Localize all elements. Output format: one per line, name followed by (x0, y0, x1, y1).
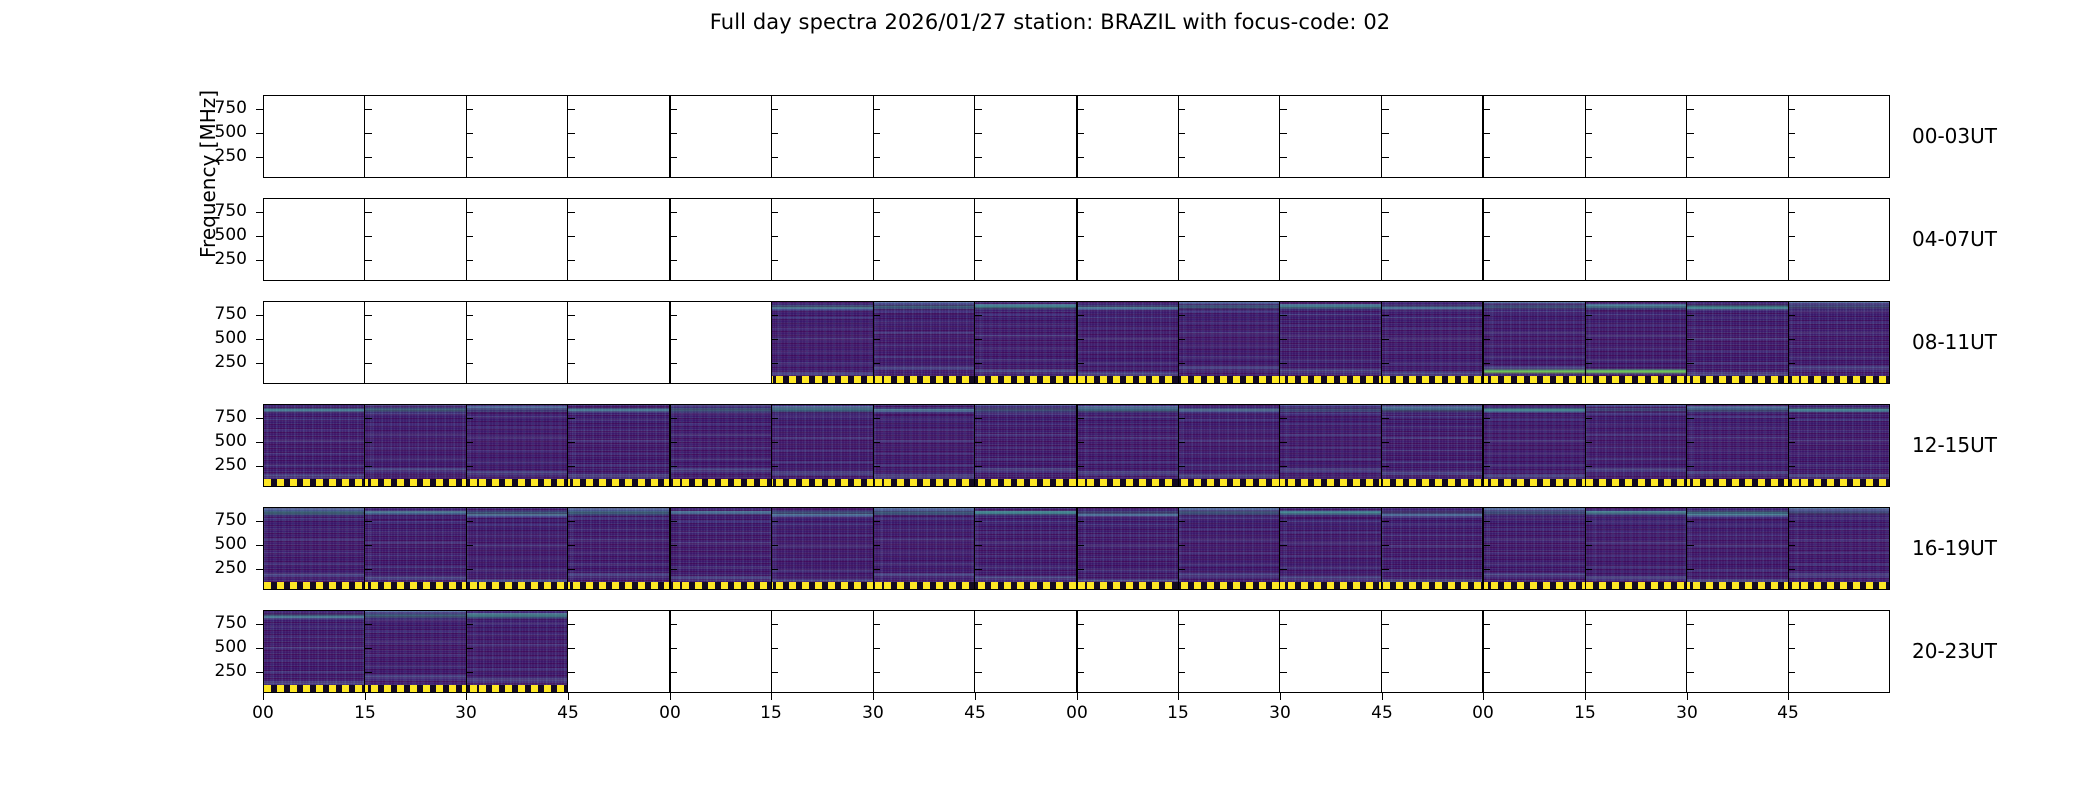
data-marker-line (975, 479, 1075, 486)
spectrogram-panel[interactable] (874, 302, 975, 383)
y-tick-mark-inner (1178, 521, 1185, 522)
spectrogram-panel[interactable] (1687, 199, 1788, 280)
spectrogram-panel[interactable] (1382, 508, 1484, 589)
spectrogram-panel[interactable] (264, 508, 365, 589)
spectrogram-panel[interactable] (874, 96, 975, 177)
spectrogram-panel[interactable] (1484, 199, 1585, 280)
y-tick-mark-inner (1483, 133, 1490, 134)
x-tick-mark (263, 693, 264, 700)
y-tick-mark-inner (1483, 624, 1490, 625)
spectrogram-panel[interactable] (1280, 302, 1381, 383)
row-axes-04-07ut[interactable] (263, 198, 1890, 281)
spectrogram-panel[interactable] (467, 96, 568, 177)
spectrogram-panel[interactable] (264, 302, 365, 383)
spectrogram-panel[interactable] (671, 199, 772, 280)
y-tick-mark-inner (568, 212, 575, 213)
spectrogram-panel[interactable] (975, 611, 1077, 692)
spectrogram-image (1687, 405, 1787, 486)
spectrogram-panel[interactable] (1484, 302, 1585, 383)
spectrogram-image (1586, 508, 1686, 589)
y-tick-mark-inner (1077, 133, 1084, 134)
spectrogram-image (1484, 302, 1584, 383)
y-tick-mark-inner (568, 339, 575, 340)
y-tick-mark-inner (670, 363, 677, 364)
y-tick-mark-inner (670, 418, 677, 419)
spectrogram-panel[interactable] (772, 199, 873, 280)
y-tick-mark-inner (1280, 260, 1287, 261)
y-tick-mark-inner (670, 624, 677, 625)
y-tick-mark-inner (1687, 442, 1694, 443)
spectrogram-panel[interactable] (467, 199, 568, 280)
y-tick-mark-inner (1788, 648, 1795, 649)
data-marker-line (1586, 479, 1686, 486)
spectrogram-panel[interactable] (1687, 611, 1788, 692)
y-tick-mark-inner (1178, 648, 1185, 649)
y-tick-mark-inner (975, 236, 982, 237)
y-tick-mark-inner (1280, 418, 1287, 419)
spectrogram-panel[interactable] (467, 611, 568, 692)
y-tick-mark-inner (1788, 624, 1795, 625)
spectrogram-panel[interactable] (1789, 96, 1889, 177)
data-marker-line (874, 582, 974, 589)
x-tick-mark (365, 693, 366, 700)
spectrogram-row: 750500250 (263, 198, 1890, 281)
y-tick-mark-inner (466, 521, 473, 522)
y-tick-mark-inner (1585, 339, 1592, 340)
spectrogram-image (1687, 302, 1787, 383)
y-tick-mark-inner (873, 109, 880, 110)
y-tick-mark-inner (1788, 236, 1795, 237)
data-marker-line (264, 479, 364, 486)
y-tick-mark-inner (771, 624, 778, 625)
row-axes-20-23ut[interactable] (263, 610, 1890, 693)
x-tick-label: 45 (538, 703, 598, 723)
spectrogram-panel[interactable] (1586, 199, 1687, 280)
y-tick-mark-inner (1788, 442, 1795, 443)
y-tick-mark-inner (1077, 212, 1084, 213)
spectrogram-panel[interactable] (772, 302, 873, 383)
spectrogram-panel[interactable] (1179, 611, 1280, 692)
spectrogram-panel[interactable] (1687, 508, 1788, 589)
y-tick-mark-inner (1687, 545, 1694, 546)
y-tick-mark-inner (1585, 212, 1592, 213)
spectrogram-panel[interactable] (1586, 508, 1687, 589)
row-axes-16-19ut[interactable] (263, 507, 1890, 590)
y-tick-mark-inner (568, 442, 575, 443)
spectrogram-panel[interactable] (1789, 302, 1889, 383)
spectrogram-panel[interactable] (568, 302, 670, 383)
spectrogram-panel[interactable] (1586, 405, 1687, 486)
spectrogram-image (1586, 302, 1686, 383)
y-tick-mark-inner (1788, 157, 1795, 158)
spectrogram-panel[interactable] (1789, 199, 1889, 280)
y-tick-mark-inner (365, 648, 372, 649)
spectrogram-panel[interactable] (568, 96, 670, 177)
spectrogram-panel[interactable] (1280, 199, 1381, 280)
y-tick-label: 500 (197, 433, 247, 450)
y-tick-mark-inner (1178, 260, 1185, 261)
spectrogram-panel[interactable] (365, 96, 466, 177)
y-tick-mark-inner (1077, 109, 1084, 110)
y-tick-mark-inner (1178, 442, 1185, 443)
spectrogram-panel[interactable] (1484, 96, 1585, 177)
spectrogram-panel[interactable] (467, 302, 568, 383)
x-tick-label: 45 (945, 703, 1005, 723)
spectrogram-panel[interactable] (264, 199, 365, 280)
spectrogram-panel[interactable] (975, 302, 1077, 383)
spectrogram-panel[interactable] (1280, 611, 1381, 692)
y-tick-mark-inner (873, 133, 880, 134)
y-tick-mark-inner (1280, 363, 1287, 364)
data-marker-line (568, 582, 668, 589)
spectrogram-panel[interactable] (1280, 508, 1381, 589)
spectrogram-panel[interactable] (1687, 405, 1788, 486)
y-tick-mark-inner (873, 260, 880, 261)
spectrogram-panel[interactable] (874, 405, 975, 486)
y-tick-mark-inner (1077, 521, 1084, 522)
y-tick-mark-inner (568, 315, 575, 316)
y-tick-mark-inner (975, 260, 982, 261)
y-tick-mark-inner (1788, 545, 1795, 546)
y-tick-mark-inner (1483, 315, 1490, 316)
spectrogram-panel[interactable] (1789, 405, 1889, 486)
y-tick-mark-inner (1585, 442, 1592, 443)
spectrogram-panel[interactable] (1484, 611, 1585, 692)
y-tick-mark-inner (1687, 363, 1694, 364)
y-tick-mark-inner (1585, 236, 1592, 237)
spectrogram-image (1484, 405, 1584, 486)
spectrogram-row: 750500250 (263, 95, 1890, 178)
y-tick-mark (256, 521, 263, 522)
y-tick-mark-inner (1077, 315, 1084, 316)
y-tick-label: 750 (197, 100, 247, 117)
y-tick-mark-inner (1687, 339, 1694, 340)
y-tick-mark-inner (1077, 418, 1084, 419)
spectrogram-panel[interactable] (975, 405, 1077, 486)
y-tick-mark-inner (1788, 569, 1795, 570)
y-tick-mark-inner (1178, 624, 1185, 625)
y-tick-mark-inner (771, 339, 778, 340)
y-tick-label: 750 (197, 615, 247, 632)
data-marker-line (1280, 582, 1380, 589)
y-tick-mark-inner (1788, 363, 1795, 364)
spectrogram-panel[interactable] (1484, 405, 1585, 486)
spectrogram-panel[interactable] (1179, 302, 1280, 383)
spectrogram-image (1179, 508, 1279, 589)
y-tick-mark-inner (1483, 466, 1490, 467)
y-tick-label: 250 (197, 251, 247, 268)
spectrogram-panel[interactable] (1280, 96, 1381, 177)
spectrogram-panel[interactable] (772, 405, 873, 486)
spectrogram-panel[interactable] (1078, 96, 1179, 177)
y-tick-mark-inner (365, 466, 372, 467)
spectrogram-panel[interactable] (1382, 611, 1484, 692)
y-tick-label: 500 (197, 330, 247, 347)
spectrogram-panel[interactable] (1179, 96, 1280, 177)
y-tick-mark (256, 442, 263, 443)
y-tick-mark-inner (466, 569, 473, 570)
y-tick-mark-inner (1382, 109, 1389, 110)
data-marker-line (1280, 479, 1380, 486)
row-axes-00-03ut[interactable] (263, 95, 1890, 178)
y-tick-mark-inner (466, 418, 473, 419)
x-tick-mark (771, 693, 772, 700)
x-tick-mark (1077, 693, 1078, 700)
y-tick-mark-inner (771, 672, 778, 673)
y-tick-mark-inner (1280, 569, 1287, 570)
x-tick-mark (1280, 693, 1281, 700)
y-tick-mark-inner (1280, 624, 1287, 625)
spectrogram-image (1280, 405, 1380, 486)
y-tick-mark-inner (1280, 109, 1287, 110)
data-marker-line (467, 582, 567, 589)
spectrogram-panel[interactable] (975, 96, 1077, 177)
y-tick-mark-inner (1382, 569, 1389, 570)
spectrogram-row: 750500250 (263, 610, 1890, 693)
row-axes-08-11ut[interactable] (263, 301, 1890, 384)
y-tick-mark-inner (1077, 624, 1084, 625)
data-marker-line (671, 479, 771, 486)
data-marker-line (1484, 582, 1584, 589)
y-tick-mark-inner (365, 624, 372, 625)
data-marker-line (772, 479, 872, 486)
spectrogram-panel[interactable] (1078, 405, 1179, 486)
y-tick-mark-inner (1483, 545, 1490, 546)
spectrogram-panel[interactable] (671, 508, 772, 589)
spectrogram-panel[interactable] (1179, 508, 1280, 589)
y-tick-mark (256, 648, 263, 649)
spectrogram-panel[interactable] (568, 508, 670, 589)
y-tick-mark-inner (1788, 212, 1795, 213)
spectrogram-panel[interactable] (1078, 199, 1179, 280)
spectrogram-image (874, 508, 974, 589)
spectrogram-panel[interactable] (874, 611, 975, 692)
spectrogram-panel[interactable] (1789, 508, 1889, 589)
spectrogram-panel[interactable] (1179, 199, 1280, 280)
spectrogram-panel[interactable] (874, 199, 975, 280)
y-tick-mark-inner (365, 260, 372, 261)
data-marker-line (874, 479, 974, 486)
spectrogram-panel[interactable] (772, 96, 873, 177)
spectrogram-panel[interactable] (1179, 405, 1280, 486)
y-tick-mark-inner (1280, 315, 1287, 316)
data-marker-line (772, 376, 872, 383)
y-tick-mark-inner (873, 157, 880, 158)
row-time-label: 12-15UT (1912, 433, 1997, 457)
y-tick-mark-inner (1585, 672, 1592, 673)
spectrogram-panel[interactable] (365, 611, 466, 692)
spectrogram-panel[interactable] (1382, 199, 1484, 280)
spectrogram-panel[interactable] (671, 405, 772, 486)
y-tick-mark-inner (365, 418, 372, 419)
y-tick-mark (256, 569, 263, 570)
y-tick-mark-inner (1788, 339, 1795, 340)
y-tick-mark-inner (1483, 418, 1490, 419)
data-marker-line (1078, 376, 1178, 383)
spectrogram-image (1382, 405, 1482, 486)
y-tick-mark-inner (975, 466, 982, 467)
spectrogram-panel[interactable] (467, 508, 568, 589)
y-tick-mark-inner (1687, 157, 1694, 158)
spectrogram-panel[interactable] (772, 508, 873, 589)
y-tick-mark-inner (873, 212, 880, 213)
y-tick-mark-inner (873, 648, 880, 649)
spectrogram-panel[interactable] (1484, 508, 1585, 589)
spectrogram-panel[interactable] (975, 508, 1077, 589)
y-tick-mark-inner (1178, 545, 1185, 546)
y-tick-mark-inner (466, 339, 473, 340)
y-tick-mark-inner (975, 109, 982, 110)
y-tick-mark-inner (1382, 363, 1389, 364)
y-tick-mark-inner (975, 133, 982, 134)
spectrogram-image (467, 611, 567, 692)
y-tick-mark-inner (365, 569, 372, 570)
x-tick-mark (1585, 693, 1586, 700)
y-tick-mark-inner (466, 672, 473, 673)
y-tick-mark-inner (365, 521, 372, 522)
x-tick-mark (1382, 693, 1383, 700)
y-tick-mark-inner (771, 315, 778, 316)
y-tick-mark-inner (771, 569, 778, 570)
spectrogram-image (874, 405, 974, 486)
radio-burst-feature (1484, 369, 1584, 374)
y-tick-mark-inner (670, 212, 677, 213)
spectrogram-image (1586, 405, 1686, 486)
y-tick-mark-inner (1382, 339, 1389, 340)
spectrogram-panel[interactable] (1586, 611, 1687, 692)
y-tick-mark-inner (1178, 418, 1185, 419)
spectrogram-panel[interactable] (365, 508, 466, 589)
x-tick-mark (1178, 693, 1179, 700)
data-marker-line (1687, 376, 1787, 383)
y-tick-mark-inner (670, 157, 677, 158)
y-tick-mark-inner (1585, 157, 1592, 158)
spectrogram-panel[interactable] (467, 405, 568, 486)
spectrogram-panel[interactable] (568, 199, 670, 280)
spectrogram-panel[interactable] (1586, 302, 1687, 383)
spectrogram-image (1078, 508, 1178, 589)
x-tick-label: 15 (1148, 703, 1208, 723)
y-tick-mark-inner (466, 315, 473, 316)
y-tick-mark-inner (1382, 260, 1389, 261)
y-tick-mark-inner (670, 260, 677, 261)
y-tick-mark-inner (1382, 648, 1389, 649)
spectrogram-image (772, 405, 872, 486)
data-marker-line (1179, 582, 1279, 589)
row-time-label: 08-11UT (1912, 330, 1997, 354)
y-tick-mark (256, 418, 263, 419)
y-tick-mark-inner (1178, 315, 1185, 316)
y-tick-mark (256, 157, 263, 158)
spectrogram-image (467, 405, 567, 486)
spectrogram-image (264, 611, 364, 692)
y-tick-mark-inner (1077, 648, 1084, 649)
y-tick-mark-inner (1687, 418, 1694, 419)
spectrogram-panel[interactable] (1382, 96, 1484, 177)
y-tick-mark-inner (1483, 157, 1490, 158)
y-tick-label: 500 (197, 124, 247, 141)
x-tick-label: 30 (843, 703, 903, 723)
y-tick-mark-inner (1788, 109, 1795, 110)
y-tick-mark (256, 339, 263, 340)
x-tick-label: 00 (1047, 703, 1107, 723)
row-axes-12-15ut[interactable] (263, 404, 1890, 487)
spectrogram-image (467, 508, 567, 589)
y-tick-label: 250 (197, 148, 247, 165)
row-time-label: 04-07UT (1912, 227, 1997, 251)
data-marker-line (1382, 479, 1482, 486)
y-tick-mark-inner (1280, 466, 1287, 467)
y-tick-mark-inner (568, 672, 575, 673)
spectrogram-panel[interactable] (1078, 508, 1179, 589)
y-tick-mark-inner (1687, 315, 1694, 316)
data-marker-line (1586, 376, 1686, 383)
y-tick-mark-inner (1178, 109, 1185, 110)
data-marker-line (1280, 376, 1380, 383)
y-tick-mark-inner (1788, 466, 1795, 467)
spectrogram-panel[interactable] (1078, 302, 1179, 383)
y-tick-mark-inner (1483, 236, 1490, 237)
data-marker-line (1789, 582, 1889, 589)
spectrogram-panel[interactable] (772, 611, 873, 692)
spectrogram-panel[interactable] (1586, 96, 1687, 177)
y-tick-mark-inner (1585, 545, 1592, 546)
spectrogram-panel[interactable] (671, 611, 772, 692)
data-marker-line (1789, 479, 1889, 486)
spectrogram-image (1179, 405, 1279, 486)
spectrogram-panel[interactable] (1687, 302, 1788, 383)
spectrogram-panel[interactable] (264, 96, 365, 177)
spectrogram-panel[interactable] (1382, 302, 1484, 383)
spectrogram-panel[interactable] (1687, 96, 1788, 177)
x-tick-label: 30 (1250, 703, 1310, 723)
spectrogram-panel[interactable] (568, 405, 670, 486)
y-tick-mark-inner (1178, 212, 1185, 213)
spectrogram-image (568, 405, 668, 486)
y-tick-mark-inner (771, 545, 778, 546)
y-tick-mark-inner (1585, 521, 1592, 522)
spectrogram-panel[interactable] (365, 405, 466, 486)
data-marker-line (1078, 582, 1178, 589)
spectrogram-panel[interactable] (365, 199, 466, 280)
y-tick-mark-inner (1687, 466, 1694, 467)
spectrogram-panel[interactable] (264, 611, 365, 692)
y-tick-mark-inner (975, 339, 982, 340)
spectrogram-panel[interactable] (671, 302, 772, 383)
y-tick-mark-inner (466, 212, 473, 213)
spectrogram-panel[interactable] (1789, 611, 1889, 692)
spectrogram-panel[interactable] (874, 508, 975, 589)
spectrogram-panel[interactable] (568, 611, 670, 692)
y-tick-mark-inner (365, 442, 372, 443)
y-tick-mark-inner (466, 109, 473, 110)
y-tick-label: 750 (197, 409, 247, 426)
spectrogram-panel[interactable] (975, 199, 1077, 280)
y-tick-mark-inner (1687, 236, 1694, 237)
data-marker-line (772, 582, 872, 589)
spectrogram-panel[interactable] (1280, 405, 1381, 486)
spectrogram-panel[interactable] (671, 96, 772, 177)
spectrogram-panel[interactable] (1382, 405, 1484, 486)
spectrogram-panel[interactable] (264, 405, 365, 486)
y-tick-mark-inner (1178, 466, 1185, 467)
spectrogram-panel[interactable] (365, 302, 466, 383)
y-tick-mark-inner (568, 418, 575, 419)
y-tick-mark-inner (365, 672, 372, 673)
spectrogram-panel[interactable] (1078, 611, 1179, 692)
y-tick-mark (256, 624, 263, 625)
spectrogram-image (365, 405, 465, 486)
